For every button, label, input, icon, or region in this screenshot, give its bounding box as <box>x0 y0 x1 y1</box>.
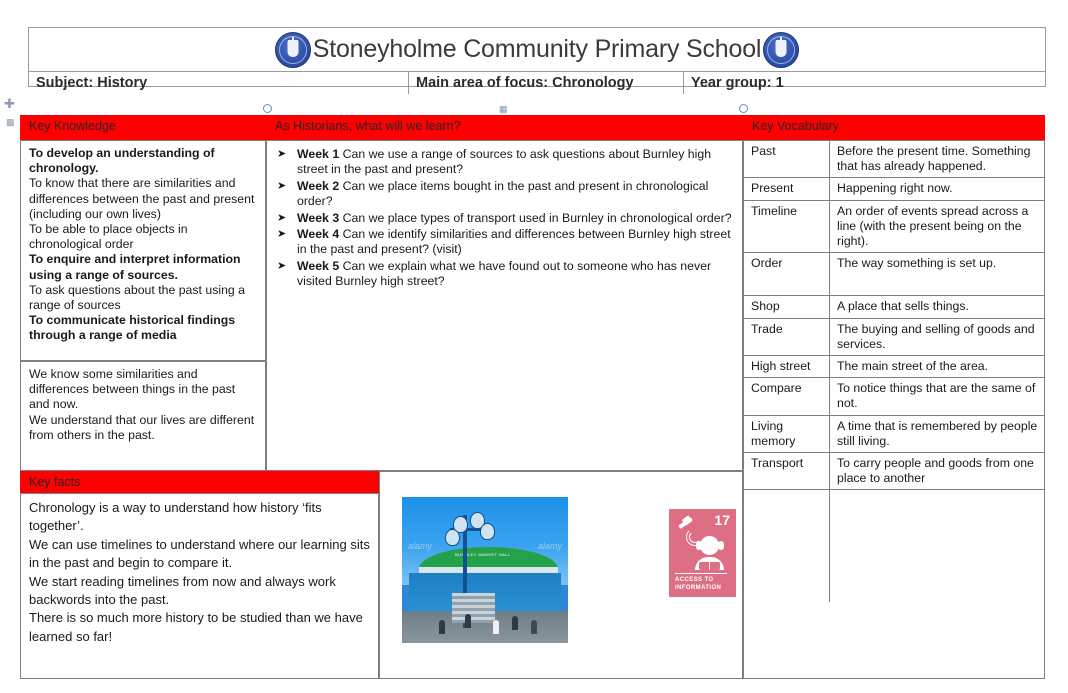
week-label: Week 2 <box>297 179 339 193</box>
key-knowledge-aims-text: To develop an understanding of chronolog… <box>21 141 265 348</box>
week-label: Week 1 <box>297 147 339 161</box>
week-item: ➤ Week 3 Can we place types of transport… <box>273 211 734 226</box>
pedestrian <box>493 620 499 634</box>
sdg-17-access-to-information-badge: 17 ACCESS TO INFORMATION <box>669 509 736 597</box>
key-facts-cell: Chronology is a way to understand how hi… <box>20 493 379 679</box>
sdg-label-line2: INFORMATION <box>675 585 721 591</box>
vocab-definition: To notice things that are the same of no… <box>830 378 1044 415</box>
vocab-term: Transport <box>744 453 830 490</box>
week-label: Week 3 <box>297 211 339 225</box>
key-fact-line: We start reading timelines from now and … <box>29 573 370 610</box>
week-question: Can we place types of transport used in … <box>343 211 732 225</box>
key-knowledge-header: Key Knowledge <box>20 115 266 140</box>
vocab-definition: The way something is set up. <box>830 253 1044 296</box>
chevron-bullet-icon: ➤ <box>273 179 297 210</box>
aim-item: To communicate historical findings throu… <box>29 313 258 343</box>
pedestrian <box>439 620 445 634</box>
vocab-term: High street <box>744 356 830 378</box>
vocab-row: High street The main street of the area. <box>744 356 1044 378</box>
pedestrian <box>512 616 518 630</box>
vocab-term: Present <box>744 178 830 200</box>
vocab-definition: The buying and selling of goods and serv… <box>830 319 1044 356</box>
vocab-row <box>744 490 1044 602</box>
sdg-label: ACCESS TO INFORMATION <box>675 577 721 592</box>
chevron-bullet-icon: ➤ <box>273 227 297 258</box>
pedestrian <box>465 614 471 628</box>
outcome-item: We understand that our lives are differe… <box>29 413 258 443</box>
week-label: Week 4 <box>297 227 339 241</box>
vocab-row: Timeline An order of events spread acros… <box>744 201 1044 254</box>
key-knowledge-outcomes-text: We know some similarities and difference… <box>21 362 265 447</box>
key-knowledge-outcomes-cell: We know some similarities and difference… <box>20 361 266 471</box>
photo-watermark: alamy <box>538 541 562 551</box>
market-hall-stairs <box>452 593 495 622</box>
key-vocabulary-header: Key Vocabulary <box>743 115 1045 140</box>
vocab-definition: Happening right now. <box>830 178 1044 200</box>
column-marker-dot-2[interactable] <box>739 104 748 113</box>
subject-cell: Subject: History <box>29 72 409 94</box>
header-table: Stoneyholme Community Primary School Sub… <box>28 27 1046 87</box>
vocab-term: Living memory <box>744 416 830 453</box>
vocab-term: Order <box>744 253 830 296</box>
school-title-row: Stoneyholme Community Primary School <box>29 28 1045 72</box>
vocab-row: Shop A place that sells things. <box>744 296 1044 318</box>
vocab-row: Order The way something is set up. <box>744 253 1044 296</box>
school-crest-icon <box>275 32 311 68</box>
vocab-row: Transport To carry people and goods from… <box>744 453 1044 490</box>
sdg-number: 17 <box>714 512 730 528</box>
aim-item: To develop an understanding of chronolog… <box>29 146 258 176</box>
aim-item: To be able to place objects in chronolog… <box>29 222 258 252</box>
column-marker-dot-1[interactable] <box>263 104 272 113</box>
street-lamp-icon <box>480 523 495 540</box>
vocab-row: Present Happening right now. <box>744 178 1044 200</box>
week-label: Week 5 <box>297 259 339 273</box>
table-resize-handle-icon[interactable]: ▩ <box>6 116 18 128</box>
vocab-term <box>744 490 830 602</box>
historians-body-cell: ➤ Week 1 Can we use a range of sources t… <box>266 140 743 471</box>
key-facts-header: Key facts <box>20 471 379 493</box>
aim-item: To ask questions about the past using a … <box>29 283 258 313</box>
chevron-bullet-icon: ➤ <box>273 147 297 178</box>
week-item: ➤ Week 2 Can we place items bought in th… <box>273 179 734 210</box>
vocab-term: Timeline <box>744 201 830 254</box>
school-name: Stoneyholme Community Primary School <box>313 35 762 64</box>
weeks-list: ➤ Week 1 Can we use a range of sources t… <box>267 141 742 295</box>
document-page: ▩ ▦ Stoneyholme Community Primary School… <box>0 0 1068 693</box>
vocab-row: Past Before the present time. Something … <box>744 141 1044 178</box>
historians-header: As Historians, what will we learn? <box>266 115 743 140</box>
photo-watermark: alamy <box>408 541 432 551</box>
aim-item: To enquire and interpret information usi… <box>29 252 258 282</box>
vocab-term: Past <box>744 141 830 178</box>
week-question: Can we use a range of sources to ask que… <box>297 147 711 176</box>
sdg-divider <box>675 573 727 575</box>
year-group-cell: Year group: 1 <box>684 72 1045 94</box>
outcome-item: We know some similarities and difference… <box>29 367 258 413</box>
burnley-market-hall-photo: BURNLEY MARKET HALL alamy alamy <box>402 497 568 643</box>
header-meta-row: Subject: History Main area of focus: Chr… <box>29 72 1045 94</box>
open-book-icon <box>699 562 720 570</box>
key-fact-line: Chronology is a way to understand how hi… <box>29 499 370 536</box>
key-facts-text: Chronology is a way to understand how hi… <box>21 494 378 650</box>
vocab-row: Trade The buying and selling of goods an… <box>744 319 1044 356</box>
key-vocabulary-cell: Past Before the present time. Something … <box>743 140 1045 679</box>
chevron-bullet-icon: ➤ <box>273 211 297 226</box>
vocab-definition: Before the present time. Something that … <box>830 141 1044 178</box>
week-item: ➤ Week 4 Can we identify similarities an… <box>273 227 734 258</box>
key-vocabulary-table: Past Before the present time. Something … <box>744 141 1044 602</box>
vocab-row: Living memory A time that is remembered … <box>744 416 1044 453</box>
week-item: ➤ Week 1 Can we use a range of sources t… <box>273 147 734 178</box>
vocab-term: Shop <box>744 296 830 318</box>
vocab-term: Trade <box>744 319 830 356</box>
focus-cell: Main area of focus: Chronology <box>409 72 684 94</box>
table-move-handle-icon[interactable] <box>4 95 20 111</box>
week-item: ➤ Week 5 Can we explain what we have fou… <box>273 259 734 290</box>
person-head-icon <box>700 536 719 555</box>
week-question: Can we explain what we have found out to… <box>297 259 711 288</box>
key-knowledge-aims-cell: To develop an understanding of chronolog… <box>20 140 266 361</box>
table-grid-dots-icon[interactable]: ▦ <box>499 105 508 114</box>
vocab-definition: A place that sells things. <box>830 296 1044 318</box>
aim-item: To know that there are similarities and … <box>29 176 258 222</box>
key-fact-line: There is so much more history to be stud… <box>29 609 370 646</box>
sdg-label-line1: ACCESS TO <box>675 577 714 583</box>
vocab-term: Compare <box>744 378 830 415</box>
vocab-row: Compare To notice things that are the sa… <box>744 378 1044 415</box>
pedestrian <box>531 620 537 634</box>
week-question: Can we place items bought in the past an… <box>297 179 708 208</box>
vocab-definition <box>830 490 1044 602</box>
school-crest-icon <box>763 32 799 68</box>
vocab-definition: An order of events spread across a line … <box>830 201 1044 254</box>
vocab-definition: A time that is remembered by people stil… <box>830 416 1044 453</box>
chevron-bullet-icon: ➤ <box>273 259 297 290</box>
vocab-definition: The main street of the area. <box>830 356 1044 378</box>
week-question: Can we identify similarities and differe… <box>297 227 731 256</box>
street-lamp-icon <box>445 529 460 546</box>
vocab-definition: To carry people and goods from one place… <box>830 453 1044 490</box>
key-fact-line: We can use timelines to understand where… <box>29 536 370 573</box>
